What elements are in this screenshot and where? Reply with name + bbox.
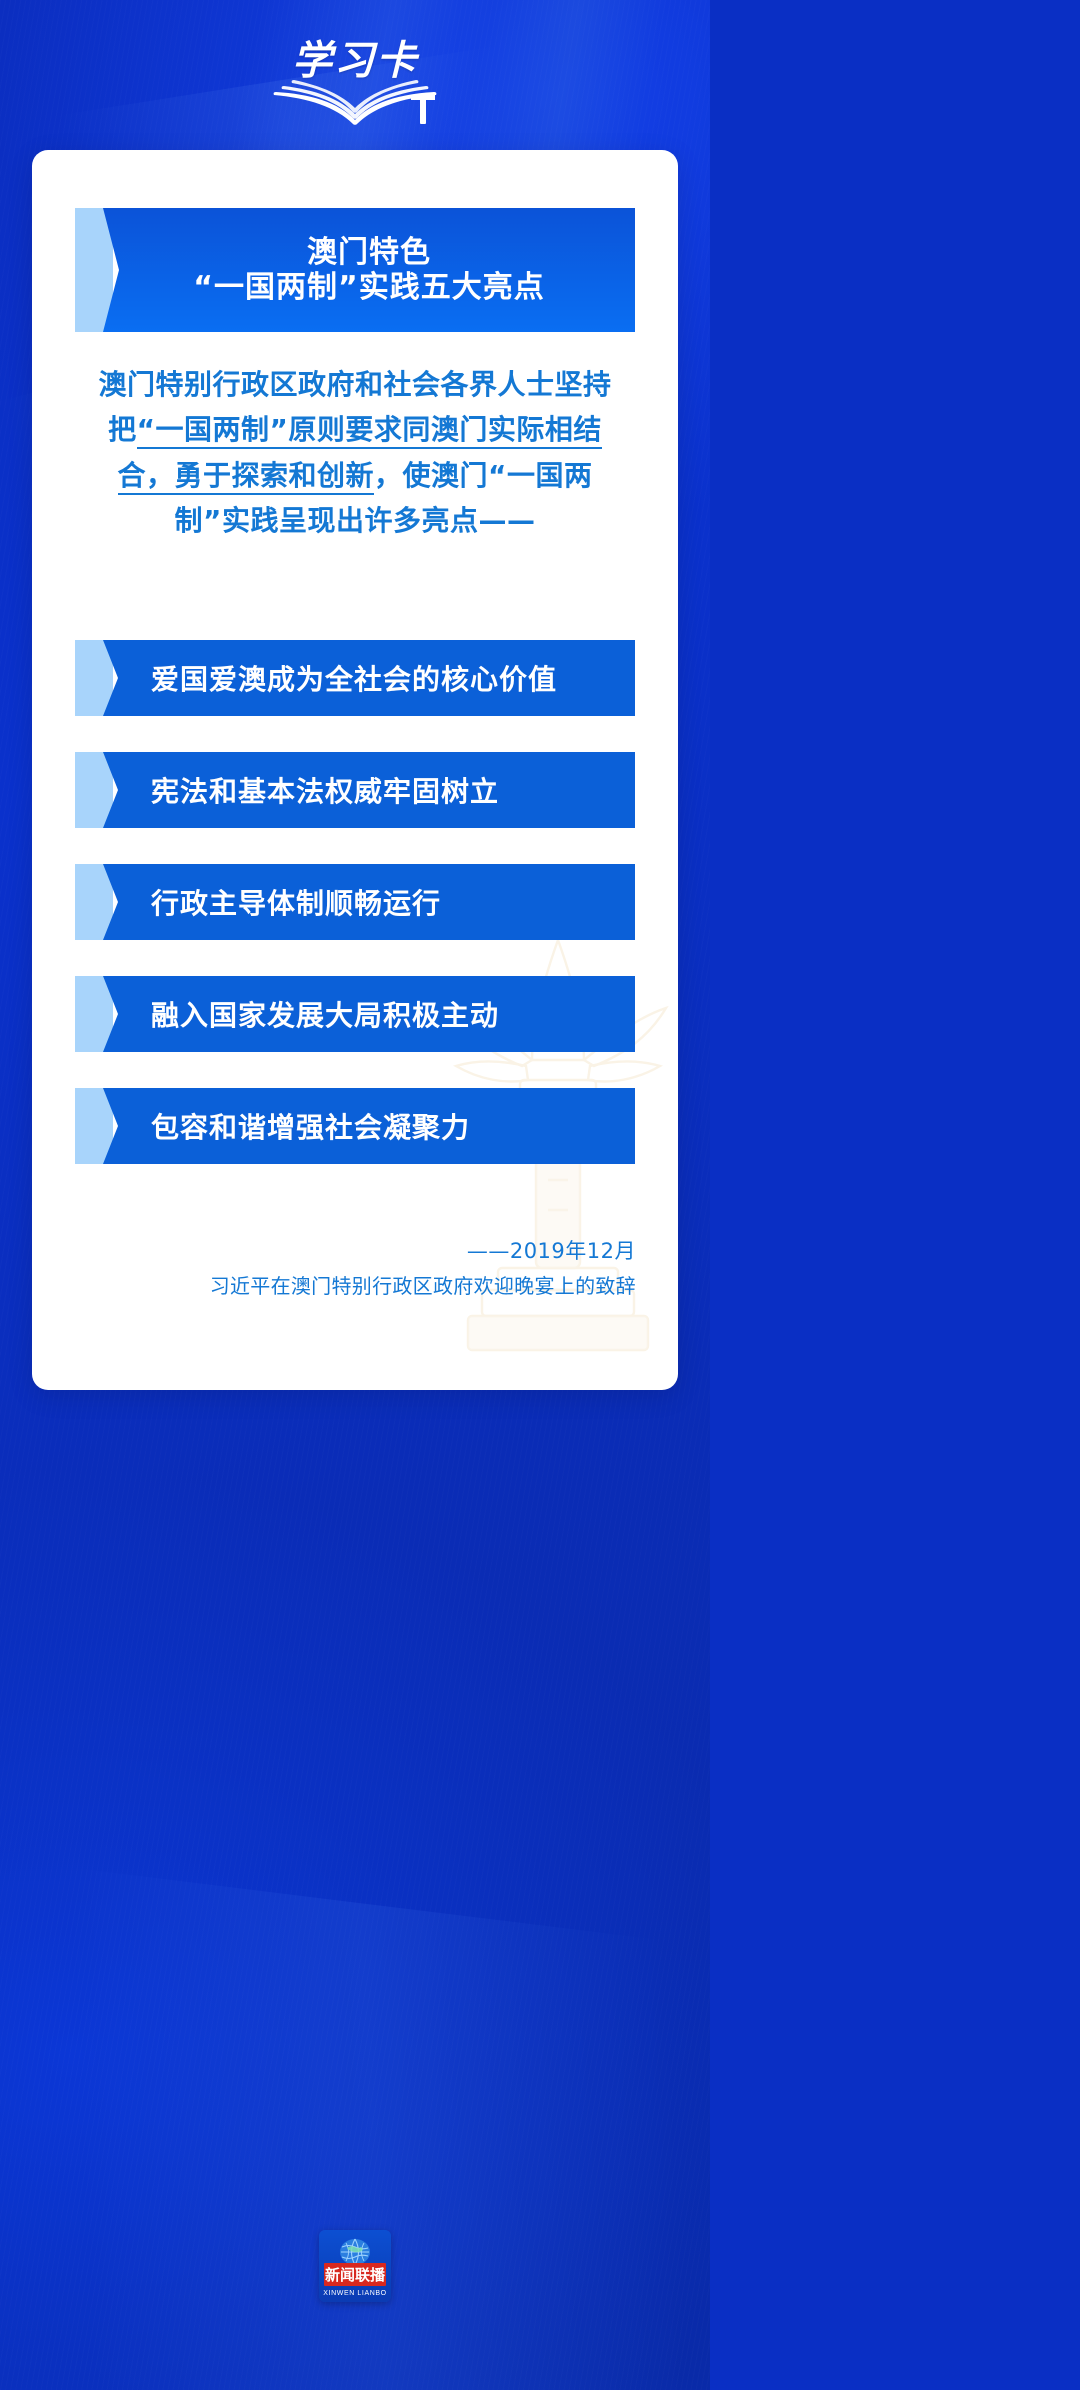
list-item[interactable]: 宪法和基本法权威牢固树立 bbox=[75, 752, 635, 828]
title-accent-tab bbox=[75, 208, 113, 332]
attribution-source: 习近平在澳门特别行政区政府欢迎晚宴上的致辞 bbox=[76, 1269, 636, 1303]
poster-header: 学习卡 bbox=[0, 0, 710, 150]
list-item-body: 爱国爱澳成为全社会的核心价值 bbox=[103, 640, 635, 716]
poster-canvas: 学习卡 bbox=[0, 0, 710, 2390]
badge-title-cn: 新闻联播 bbox=[324, 2263, 386, 2286]
content-card: 澳门特色 “一国两制”实践五大亮点 澳门特别行政区政府和社会各界人士坚持把“一国… bbox=[32, 150, 678, 1390]
list-item-label: 爱国爱澳成为全社会的核心价值 bbox=[151, 658, 557, 698]
poster-footer: 新闻联播 XINWEN LIANBO bbox=[0, 2130, 710, 2390]
list-item-accent-tab bbox=[75, 1088, 113, 1164]
list-item-body: 融入国家发展大局积极主动 bbox=[103, 976, 635, 1052]
list-item-label: 融入国家发展大局积极主动 bbox=[151, 994, 499, 1034]
list-item[interactable]: 包容和谐增强社会凝聚力 bbox=[75, 1088, 635, 1164]
list-item-accent-tab bbox=[75, 640, 113, 716]
open-book-icon bbox=[270, 68, 440, 131]
list-item-accent-tab bbox=[75, 864, 113, 940]
intro-paragraph: 澳门特别行政区政府和社会各界人士坚持把“一国两制”原则要求同澳门实际相结合，勇于… bbox=[80, 362, 630, 543]
list-item-label: 包容和谐增强社会凝聚力 bbox=[151, 1106, 470, 1146]
list-item-body: 行政主导体制顺畅运行 bbox=[103, 864, 635, 940]
xinwen-lianbo-badge[interactable]: 新闻联播 XINWEN LIANBO bbox=[319, 2230, 391, 2302]
list-item[interactable]: 融入国家发展大局积极主动 bbox=[75, 976, 635, 1052]
list-item-accent-tab bbox=[75, 976, 113, 1052]
list-item[interactable]: 爱国爱澳成为全社会的核心价值 bbox=[75, 640, 635, 716]
attribution-date: ——2019年12月 bbox=[76, 1235, 636, 1269]
card-title-line1: 澳门特色 bbox=[307, 235, 431, 270]
attribution: ——2019年12月 习近平在澳门特别行政区政府欢迎晚宴上的致辞 bbox=[76, 1235, 636, 1303]
list-item-accent-tab bbox=[75, 752, 113, 828]
badge-title-en: XINWEN LIANBO bbox=[319, 2290, 391, 2297]
list-item-body: 宪法和基本法权威牢固树立 bbox=[103, 752, 635, 828]
brand-logo: 学习卡 bbox=[255, 28, 455, 123]
list-item-label: 行政主导体制顺畅运行 bbox=[151, 882, 441, 922]
list-item[interactable]: 行政主导体制顺畅运行 bbox=[75, 864, 635, 940]
highlight-list: 爱国爱澳成为全社会的核心价值 宪法和基本法权威牢固树立 行政主导体制顺畅运行 融… bbox=[75, 640, 635, 1200]
card-title-line2: “一国两制”实践五大亮点 bbox=[193, 270, 544, 305]
title-banner-body: 澳门特色 “一国两制”实践五大亮点 bbox=[103, 208, 635, 332]
list-item-label: 宪法和基本法权威牢固树立 bbox=[151, 770, 499, 810]
list-item-body: 包容和谐增强社会凝聚力 bbox=[103, 1088, 635, 1164]
card-title-banner: 澳门特色 “一国两制”实践五大亮点 bbox=[75, 208, 635, 332]
